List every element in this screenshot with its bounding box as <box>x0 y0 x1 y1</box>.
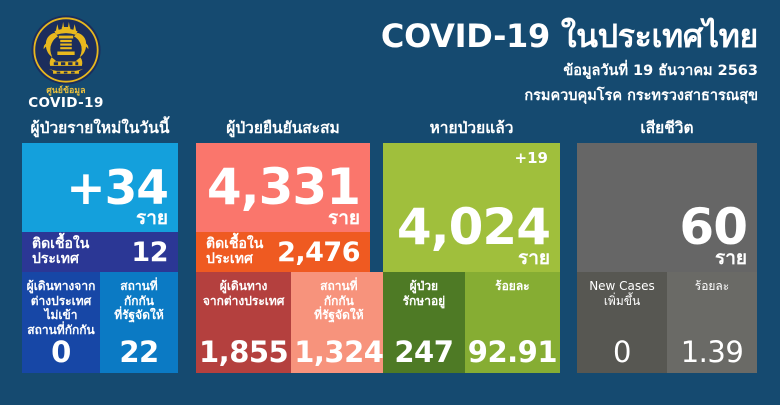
cell-label: ผู้เดินทางจากต่างประเทศ <box>203 279 285 308</box>
organization-line: กรมควบคุมโรค กระทรวงสาธารณสุข <box>381 84 758 107</box>
hero-unit: ราย <box>136 209 168 228</box>
hero-value: +34 <box>66 167 168 210</box>
hero-recovered: +19 4,024 ราย <box>383 143 560 272</box>
stat-card-deaths: 60 ราย New Casesเพิ่มขึ้น 0 ร้อยละ 1.39 <box>577 143 757 373</box>
split-row-new-cases: ผู้เดินทางจากต่างประเทศไม่เข้าสถานที่กัก… <box>22 272 178 373</box>
cell-value: 92.91 <box>468 338 557 367</box>
split-row-recovered: ผู้ป่วยรักษาอยู่ 247 ร้อยละ 92.91 <box>383 272 560 373</box>
split-row-cumulative: ผู้เดินทางจากต่างประเทศ 1,855 สถานที่กัก… <box>196 272 370 373</box>
logo-title: COVID-19 <box>8 96 124 112</box>
stat-card-cumulative: 4,331 ราย ติดเชื้อในประเทศ 2,476 ผู้เดิน… <box>196 143 370 373</box>
cell-new-deaths: New Casesเพิ่มขึ้น 0 <box>577 272 667 373</box>
hero-value: 4,331 <box>207 164 360 210</box>
split-row-deaths: New Casesเพิ่มขึ้น 0 ร้อยละ 1.39 <box>577 272 757 373</box>
mid-label: ติดเชื้อในประเทศ <box>32 237 131 266</box>
mid-value: 2,476 <box>277 239 360 266</box>
cell-value: 0 <box>613 338 631 367</box>
cell-recovered-percent: ร้อยละ 92.91 <box>465 272 560 373</box>
column-heading-recovered: หายป่วยแล้ว <box>383 120 560 137</box>
cell-label: ผู้เดินทางจากต่างประเทศไม่เข้าสถานที่กัก… <box>27 279 96 338</box>
hero-deaths: 60 ราย <box>577 143 757 272</box>
mid-row-domestic-new: ติดเชื้อในประเทศ 12 <box>22 232 178 272</box>
column-heading-new-cases: ผู้ป่วยรายใหม่ในวันนี้ <box>22 120 178 137</box>
thai-royal-garuda-emblem-icon <box>30 14 102 86</box>
hero-value: 60 <box>679 204 747 250</box>
cell-death-percent: ร้อยละ 1.39 <box>667 272 757 373</box>
cell-value: 1,324 <box>294 338 383 367</box>
page-title: COVID-19 ในประเทศไทย <box>381 18 758 55</box>
hero-new-cases: +34 ราย <box>22 143 178 232</box>
data-center-logo: ศูนย์ข้อมูล COVID-19 <box>8 14 124 112</box>
cell-label: ร้อยละ <box>695 279 729 294</box>
cell-state-quarantine: สถานที่กักกันที่รัฐจัดให้ 1,324 <box>291 272 386 373</box>
mid-value: 12 <box>131 239 168 266</box>
cell-label: สถานที่กักกันที่รัฐจัดให้ <box>114 279 164 323</box>
column-heading-cumulative: ผู้ป่วยยืนยันสะสม <box>196 120 370 137</box>
mid-label: ติดเชื้อในประเทศ <box>206 237 277 266</box>
stat-card-new-cases: +34 ราย ติดเชื้อในประเทศ 12 ผู้เดินทางจา… <box>22 143 178 373</box>
hero-cumulative: 4,331 ราย <box>196 143 370 232</box>
cell-label: ผู้ป่วยรักษาอยู่ <box>403 279 446 308</box>
cell-value: 0 <box>51 338 71 367</box>
infographic-root: ศูนย์ข้อมูล COVID-19 COVID-19 ในประเทศไท… <box>0 0 780 405</box>
cell-no-quarantine-travellers: ผู้เดินทางจากต่างประเทศไม่เข้าสถานที่กัก… <box>22 272 100 373</box>
hero-value: 4,024 <box>397 204 550 250</box>
cell-label: New Casesเพิ่มขึ้น <box>589 279 655 308</box>
cell-value: 22 <box>119 338 158 367</box>
hero-delta: +19 <box>515 149 548 167</box>
cell-state-quarantine: สถานที่กักกันที่รัฐจัดให้ 22 <box>100 272 178 373</box>
stat-card-recovered: +19 4,024 ราย ผู้ป่วยรักษาอยู่ 247 ร้อยล… <box>383 143 560 373</box>
cell-travellers-from-abroad: ผู้เดินทางจากต่างประเทศ 1,855 <box>196 272 291 373</box>
cell-active-cases: ผู้ป่วยรักษาอยู่ 247 <box>383 272 465 373</box>
cell-label: สถานที่กักกันที่รัฐจัดให้ <box>314 279 364 323</box>
cell-label: ร้อยละ <box>495 279 529 294</box>
hero-unit: ราย <box>518 249 550 268</box>
cell-value: 247 <box>394 338 453 367</box>
title-block: COVID-19 ในประเทศไทย ข้อมูลวันที่ 19 ธัน… <box>381 18 758 107</box>
data-date: ข้อมูลวันที่ 19 ธันวาคม 2563 <box>381 59 758 82</box>
cell-value: 1.39 <box>681 338 744 367</box>
cell-value: 1,855 <box>199 338 288 367</box>
column-heading-deaths: เสียชีวิต <box>577 120 757 137</box>
hero-unit: ราย <box>328 209 360 228</box>
hero-unit: ราย <box>715 249 747 268</box>
mid-row-domestic-cumulative: ติดเชื้อในประเทศ 2,476 <box>196 232 370 272</box>
